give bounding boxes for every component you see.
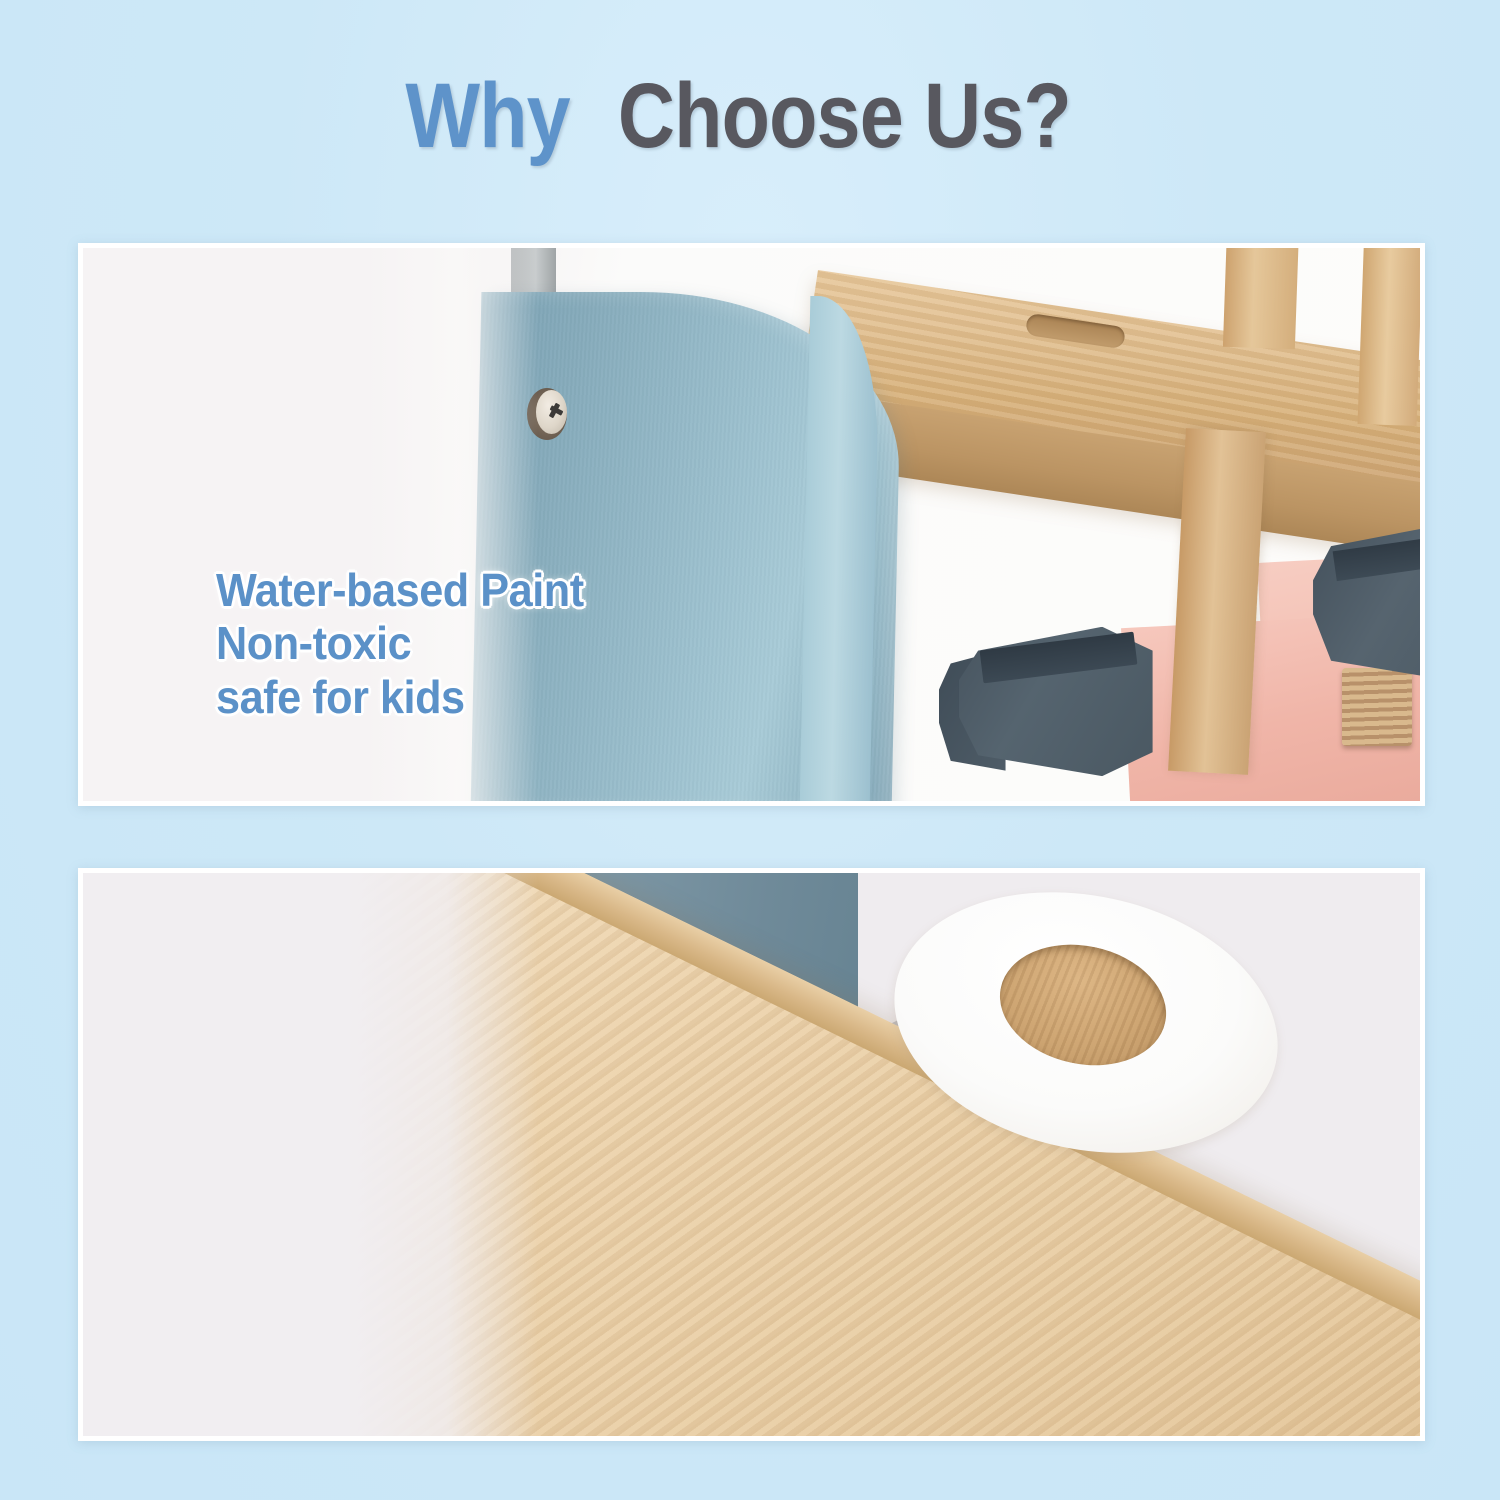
caption-line-3: safe for kids (216, 671, 584, 724)
threaded-wooden-screw-shape (1342, 668, 1412, 745)
wooden-peg-upper-shape (1223, 248, 1299, 349)
infographic-canvas: Why Choose Us? (0, 0, 1500, 1500)
painted-board-edge-shape (800, 296, 880, 801)
caption-line-1: Water-based Paint (216, 564, 584, 617)
photo-left-fade-overlay (83, 873, 538, 1436)
page-title-word-why: Why (405, 70, 569, 162)
wooden-post-right-shape (1358, 248, 1420, 426)
page-title-word-choose-us: Choose Us? (618, 70, 1071, 162)
feature-panel-solid-wood[interactable]: Solid Wood Not prone to cracking and def… (78, 868, 1425, 1441)
product-photo-solid-wood-board (83, 873, 1420, 1436)
caption-line-2: Non-toxic (216, 617, 584, 670)
page-title: Why Choose Us? (0, 70, 1500, 162)
feature-panel-water-based-paint[interactable]: Water-based Paint Non-toxic safe for kid… (78, 243, 1425, 806)
feature-caption-water-based-paint: Water-based Paint Non-toxic safe for kid… (216, 564, 584, 724)
